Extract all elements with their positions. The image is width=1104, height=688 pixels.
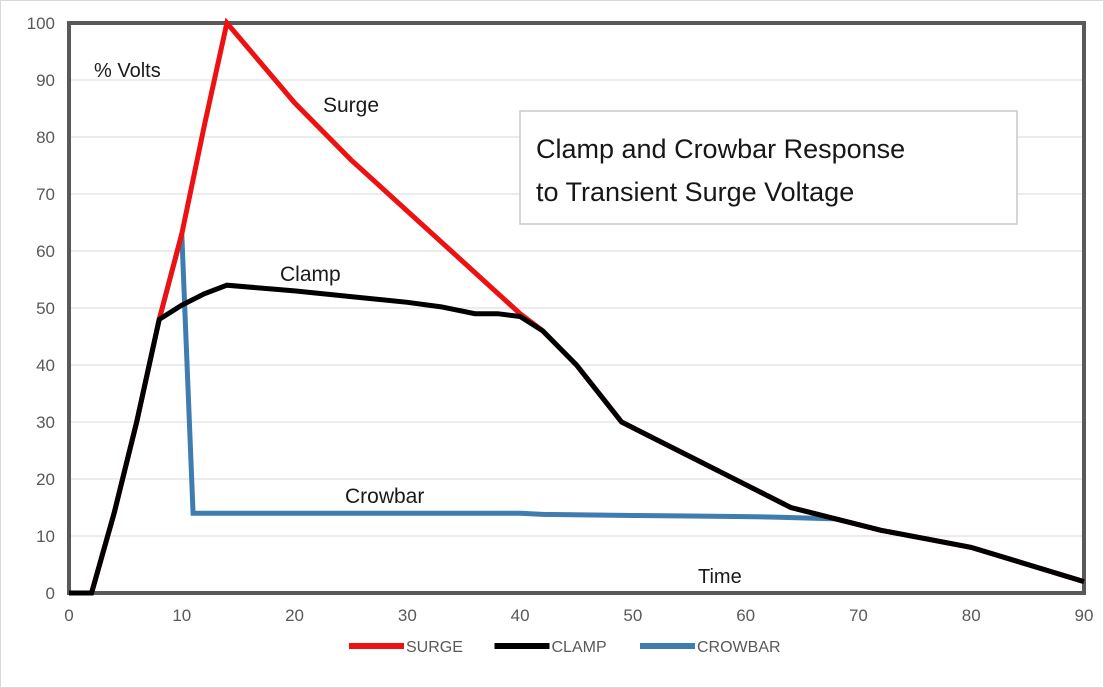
- chart-container: 0102030405060708090100 01020304050607080…: [0, 0, 1104, 688]
- y-tick-label: 50: [36, 299, 55, 318]
- y-tick-label: 70: [36, 185, 55, 204]
- legend-label-crowbar[interactable]: CROWBAR: [697, 639, 781, 656]
- legend-label-surge[interactable]: SURGE: [406, 639, 463, 656]
- y-tick-label: 0: [46, 584, 55, 603]
- line-chart: 0102030405060708090100 01020304050607080…: [1, 1, 1104, 688]
- y-tick-label: 30: [36, 413, 55, 432]
- x-tick-label: 10: [172, 606, 191, 625]
- y-tick-label: 90: [36, 71, 55, 90]
- y-tick-label: 40: [36, 356, 55, 375]
- y-axis-tick-labels: 0102030405060708090100: [27, 14, 55, 603]
- x-tick-label: 40: [511, 606, 530, 625]
- y-tick-label: 60: [36, 242, 55, 261]
- chart-title-line-2: to Transient Surge Voltage: [536, 177, 854, 207]
- x-tick-label: 60: [736, 606, 755, 625]
- y-axis-label: % Volts: [94, 60, 161, 82]
- x-tick-label: 20: [285, 606, 304, 625]
- x-axis-tick-labels: 0102030405060708090: [64, 606, 1093, 625]
- y-tick-label: 80: [36, 128, 55, 147]
- series-annotation-crowbar: Crowbar: [345, 485, 424, 508]
- series-annotation-clamp: Clamp: [280, 263, 341, 286]
- x-axis-label: Time: [698, 566, 742, 588]
- y-tick-label: 20: [36, 470, 55, 489]
- x-tick-label: 50: [623, 606, 642, 625]
- x-tick-label: 0: [64, 606, 73, 625]
- series-line-clamp: [69, 285, 1084, 593]
- x-tick-label: 90: [1075, 606, 1094, 625]
- series-annotation-surge: Surge: [323, 94, 379, 117]
- y-tick-label: 100: [27, 14, 55, 33]
- chart-legend: SURGECLAMPCROWBAR: [349, 639, 781, 656]
- x-tick-label: 80: [962, 606, 981, 625]
- chart-title-line-1: Clamp and Crowbar Response: [536, 134, 905, 164]
- chart-title-box: [520, 111, 1017, 224]
- x-tick-label: 70: [849, 606, 868, 625]
- x-tick-label: 30: [398, 606, 417, 625]
- legend-label-clamp[interactable]: CLAMP: [552, 639, 607, 656]
- y-tick-label: 10: [36, 527, 55, 546]
